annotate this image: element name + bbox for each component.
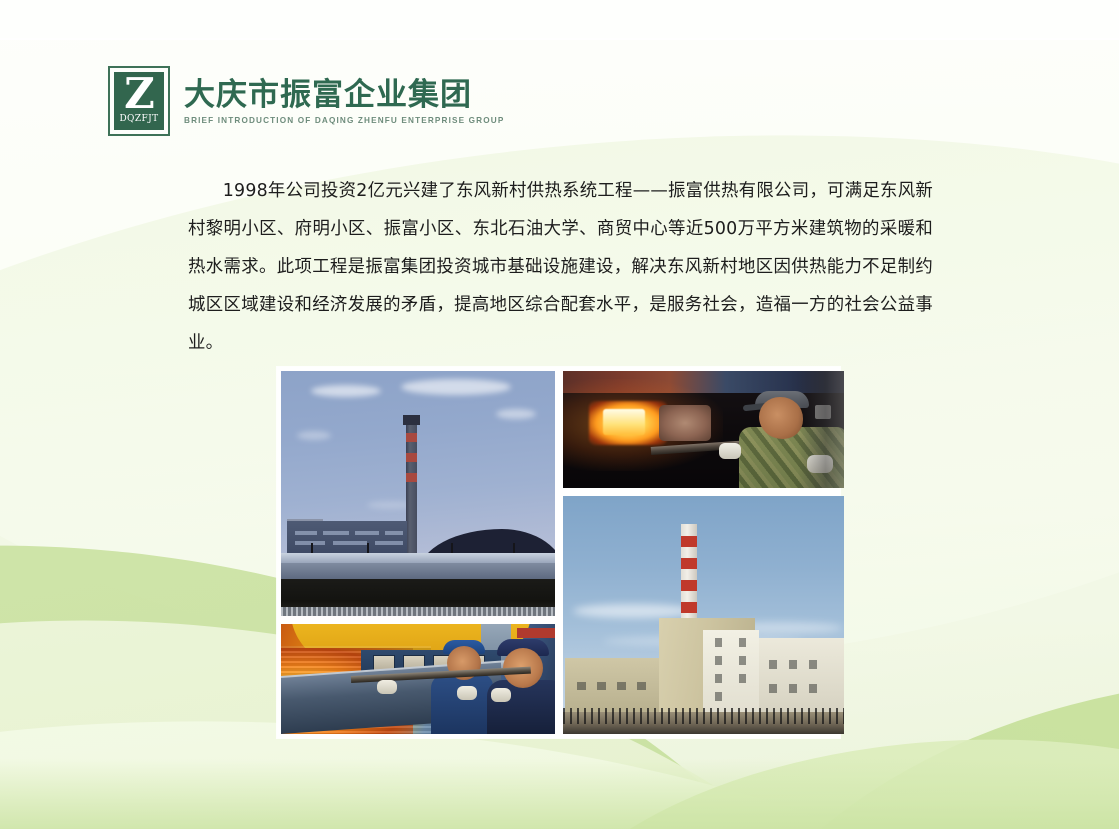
photo3-window <box>789 684 797 693</box>
photo3-chimney-band <box>681 580 697 591</box>
photo1-chimney-band <box>406 433 417 442</box>
brand-subtitle-en: BRIEF INTRODUCTION OF DAQING ZHENFU ENTE… <box>184 116 504 125</box>
photo3-window <box>715 638 722 647</box>
photo-boiler-house <box>563 496 844 734</box>
photo4-worker-glove <box>377 680 397 694</box>
brand-title-cn: 大庆市振富企业集团 <box>184 78 504 112</box>
photo3-window <box>617 682 626 690</box>
slide-page: Z DQZFJT 大庆市振富企业集团 BRIEF INTRODUCTION OF… <box>0 0 1119 829</box>
photo1-cloud <box>496 409 536 419</box>
top-band-divider <box>0 38 1119 40</box>
photo3-window <box>597 682 606 690</box>
photo4-red-banner <box>517 628 555 638</box>
photo3-window <box>637 682 646 690</box>
photo-collage <box>277 367 840 738</box>
photo1-window <box>375 541 403 545</box>
photo3-chimney-band <box>681 558 697 569</box>
photo3-window <box>739 638 746 647</box>
photo2-right-shadow <box>798 371 844 488</box>
company-logo-icon: Z DQZFJT <box>108 66 170 136</box>
photo2-worker-head <box>759 397 803 439</box>
photo1-lower-structure <box>281 563 555 579</box>
photo2-furnace-door <box>659 405 711 441</box>
photo3-window <box>577 682 586 690</box>
photo1-chimney-cap <box>403 415 420 425</box>
photo3-main-facade <box>703 630 759 714</box>
photo3-right-wing <box>753 638 844 714</box>
photo4-worker-glove <box>457 686 477 700</box>
photo1-chimney-band <box>406 473 417 482</box>
photo1-window <box>295 531 317 535</box>
photo2-furnace-core <box>603 409 645 435</box>
photo1-window <box>295 541 325 545</box>
logo-inner-block: Z DQZFJT <box>114 72 164 130</box>
photo1-cloud <box>297 431 331 440</box>
brand-header: Z DQZFJT 大庆市振富企业集团 BRIEF INTRODUCTION OF… <box>108 66 504 136</box>
photo3-chimney-band <box>681 536 697 547</box>
logo-letter-z: Z <box>124 74 154 114</box>
photo-power-plant-exterior <box>281 371 555 616</box>
photo3-window <box>769 660 777 669</box>
photo1-window <box>333 541 367 545</box>
logo-caption: DQZFJT <box>119 114 158 124</box>
photo3-window <box>769 684 777 693</box>
photo3-window <box>739 674 746 683</box>
photo1-roofline <box>281 553 555 563</box>
photo1-cloud <box>401 379 511 395</box>
photo1-chimney-band <box>406 453 417 462</box>
photo4-worker1-body <box>431 674 493 734</box>
photo1-cloud <box>311 385 381 397</box>
photo1-window <box>385 531 403 535</box>
photo3-window <box>715 674 722 683</box>
top-white-band <box>0 0 1119 38</box>
body-paragraph: 1998年公司投资2亿元兴建了东风新村供热系统工程——振富供热有限公司，可满足东… <box>188 172 933 362</box>
photo1-window <box>355 531 379 535</box>
photo3-window <box>809 660 817 669</box>
photo1-fence <box>281 607 555 616</box>
photo3-fence <box>563 708 844 724</box>
photo-worker-furnace <box>563 371 844 488</box>
photo2-worker-glove <box>719 443 741 459</box>
photo3-window <box>715 656 722 665</box>
photo-collage-grid <box>281 371 836 734</box>
photo3-cloud <box>573 604 693 618</box>
photo3-window <box>739 656 746 665</box>
photo1-window <box>323 531 349 535</box>
content-layer: Z DQZFJT 大庆市振富企业集团 BRIEF INTRODUCTION OF… <box>0 0 1119 829</box>
photo3-chimney-band <box>681 602 697 613</box>
photo-control-room-workers <box>281 624 555 734</box>
photo3-window <box>715 692 722 701</box>
brand-text-block: 大庆市振富企业集团 BRIEF INTRODUCTION OF DAQING Z… <box>184 66 504 125</box>
photo4-worker-glove <box>491 688 511 702</box>
photo3-window <box>789 660 797 669</box>
photo3-window <box>809 684 817 693</box>
